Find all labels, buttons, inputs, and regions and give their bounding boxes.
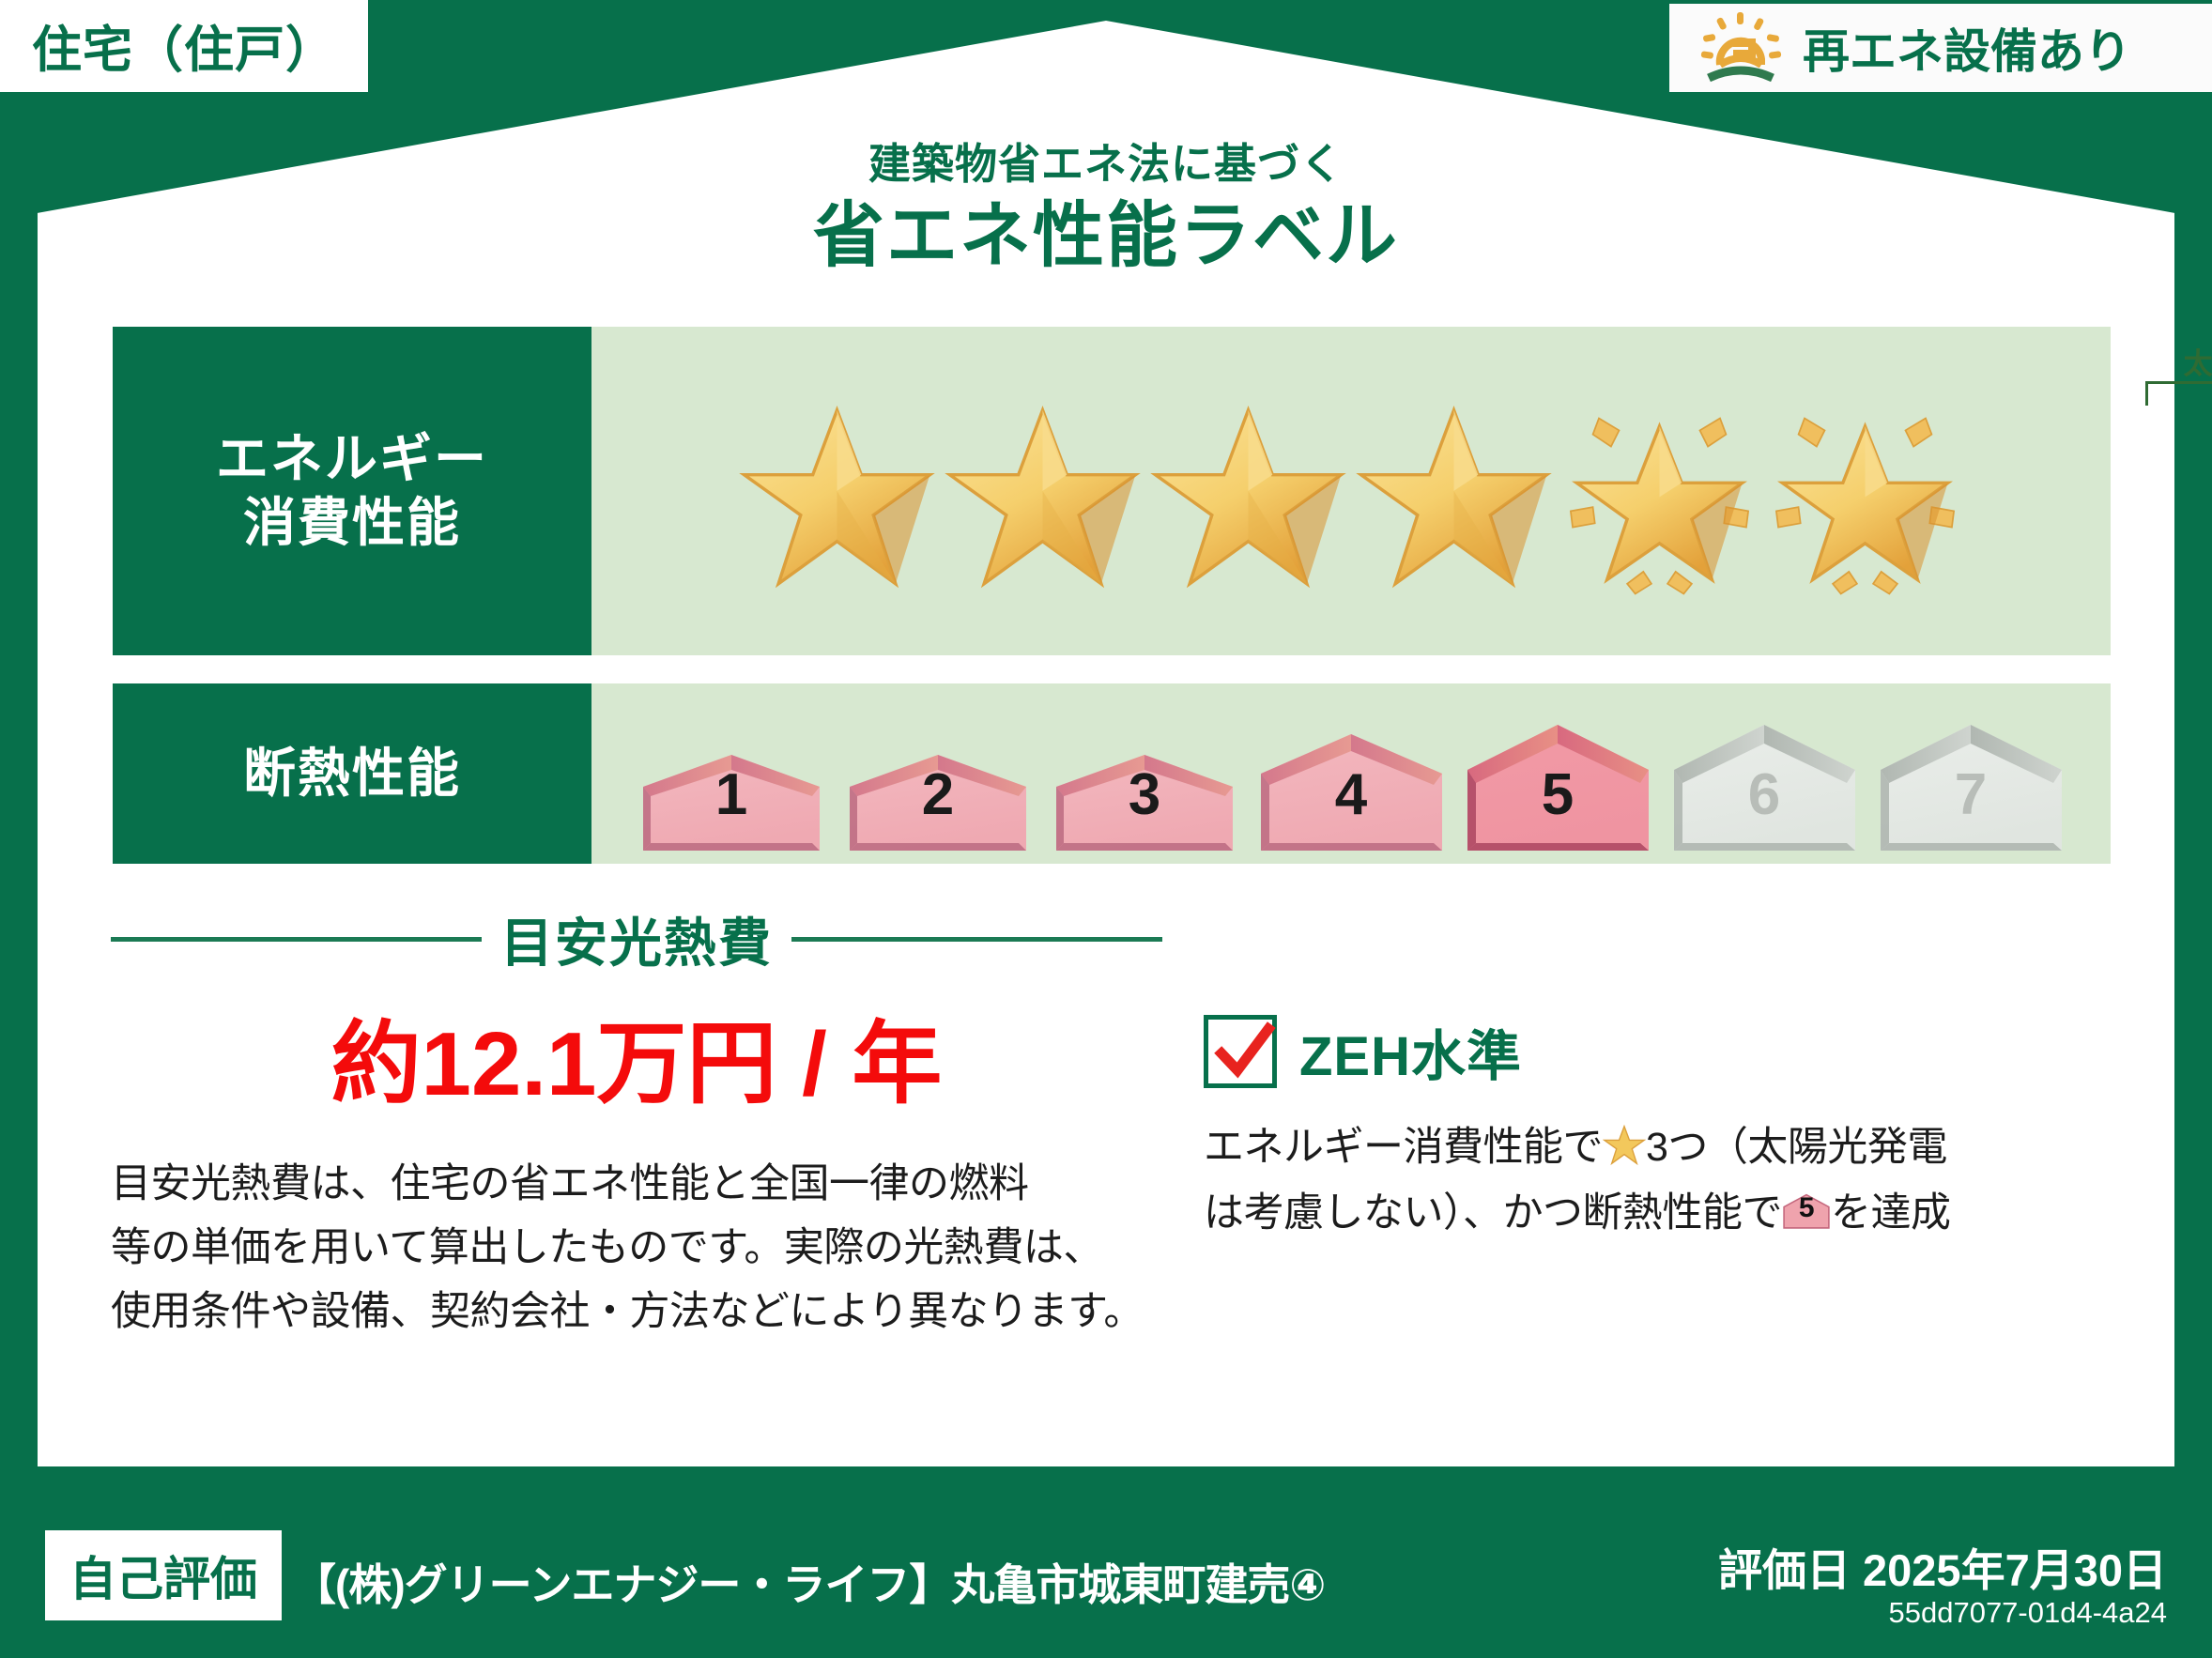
zeh-note-line1: エネルギー消費性能で3つ（太陽光発電: [1204, 1115, 2133, 1181]
insulation-label: 断熱性能: [243, 742, 461, 806]
star-3: [1147, 398, 1349, 600]
star-4: [1353, 398, 1555, 600]
zeh-note-line2-text-a: は考慮しない）、かつ断熱性能で: [1204, 1190, 1782, 1236]
zeh-standard-label: ZEH水準: [1299, 1012, 1522, 1091]
cost-note-line3: 使用条件や設備、契約会社・方法などにより異なります。: [111, 1281, 1162, 1344]
zeh-note-line1-text-b: 3つ（太陽光発電: [1646, 1125, 1947, 1170]
zeh-standard-header: ZEH水準: [1204, 1012, 1522, 1091]
energy-stars-panel: 太陽光発電(自家消費)分: [591, 327, 2111, 655]
zeh-note-line2: は考慮しない）、かつ断熱性能で5を達成: [1204, 1181, 2133, 1247]
insulation-level-7: 7: [1868, 715, 2073, 856]
evaluation-date: 評価日 2025年7月30日: [1718, 1534, 2167, 1599]
cost-note-line2: 等の単価を用いて算出したものです。実際の光熱費は、: [111, 1217, 1162, 1281]
insulation-level-5: 5: [1455, 715, 1660, 856]
evaluation-type-label: 自己評価: [69, 1542, 257, 1609]
dwelling-type-badge: 住宅（住戸）: [0, 0, 368, 92]
energy-performance-label: 住宅（住戸）: [0, 0, 2212, 1658]
star-1: [736, 398, 938, 600]
cost-rule-right: [791, 937, 1162, 942]
check-icon: [1212, 1021, 1276, 1085]
energy-performance-row: エネルギー 消費性能 太陽光発電(自家消費)分: [113, 327, 2111, 655]
insulation-performance-label-box: 断熱性能: [113, 683, 591, 864]
utility-cost-title: 目安光熱費: [500, 901, 773, 977]
insulation-level-1-number: 1: [629, 761, 834, 828]
page-title: 省エネ性能ラベル: [0, 192, 2212, 281]
cost-rule-left: [111, 937, 482, 942]
renewable-equipment-badge: 再エネ設備あり: [1669, 4, 2212, 92]
renewable-equipment-label: 再エネ設備あり: [1803, 14, 2131, 82]
label-title-block: 建築物省エネ法に基づく 省エネ性能ラベル: [0, 141, 2212, 281]
insulation-level-7-number: 7: [1868, 761, 2073, 828]
solar-generation-note: 太陽光発電(自家消費)分: [2131, 340, 2212, 382]
energy-star-rating: [591, 327, 2111, 655]
insulation-level-2: 2: [836, 745, 1040, 856]
insulation-level-4: 4: [1249, 725, 1453, 856]
zeh-note-line2-text-b: を達成: [1831, 1190, 1951, 1236]
star-2: [942, 398, 1144, 600]
energy-performance-label-box: エネルギー 消費性能: [113, 327, 591, 655]
insulation-level-3: 3: [1042, 745, 1247, 856]
insulation-level-5-number: 5: [1455, 761, 1660, 828]
cost-note-line1: 目安光熱費は、住宅の省エネ性能と全国一律の燃料: [111, 1153, 1162, 1217]
utility-cost-note: 目安光熱費は、住宅の省エネ性能と全国一律の燃料 等の単価を用いて算出したものです…: [111, 1153, 1162, 1344]
inline-house-icon: 5: [1782, 1189, 1831, 1234]
inline-star-icon: [1603, 1122, 1646, 1165]
utility-cost-amount: 約12.1万円 / 年: [111, 990, 1162, 1121]
zeh-standard-note: エネルギー消費性能で3つ（太陽光発電 は考慮しない）、かつ断熱性能で5を達成: [1204, 1115, 2133, 1246]
company-and-property-name: 【(株)グリーンエナジー・ライフ】丸亀市城東町建売④: [293, 1551, 1325, 1613]
insulation-levels-panel: 1 2: [591, 683, 2111, 864]
utility-cost-header: 目安光熱費: [111, 901, 1162, 977]
insulation-level-scale: 1 2: [591, 683, 2111, 864]
dwelling-type-label: 住宅（住戸）: [32, 10, 336, 82]
star-6-solar: [1764, 398, 1966, 600]
label-id: 55dd7077-01d4-4a24: [1889, 1596, 2168, 1630]
insulation-level-4-number: 4: [1249, 761, 1453, 828]
insulation-performance-row: 断熱性能: [113, 683, 2111, 864]
sun-plug-icon: [1692, 10, 1790, 85]
zeh-checkbox[interactable]: [1204, 1015, 1277, 1088]
star-5-solar: [1559, 398, 1760, 600]
insulation-level-2-number: 2: [836, 761, 1040, 828]
energy-label-line2: 消費性能: [243, 491, 461, 555]
solar-bracket: [2145, 381, 2212, 406]
insulation-level-6: 6: [1662, 715, 1866, 856]
label-subtitle: 建築物省エネ法に基づく: [0, 141, 2212, 188]
insulation-level-1: 1: [629, 745, 834, 856]
energy-label-line1: エネルギー: [216, 427, 488, 491]
insulation-level-6-number: 6: [1662, 761, 1866, 828]
zeh-note-line1-text-a: エネルギー消費性能で: [1204, 1125, 1603, 1170]
evaluation-type-badge: 自己評価: [45, 1530, 282, 1620]
inline-house-level: 5: [1782, 1186, 1831, 1232]
insulation-level-3-number: 3: [1042, 761, 1247, 828]
